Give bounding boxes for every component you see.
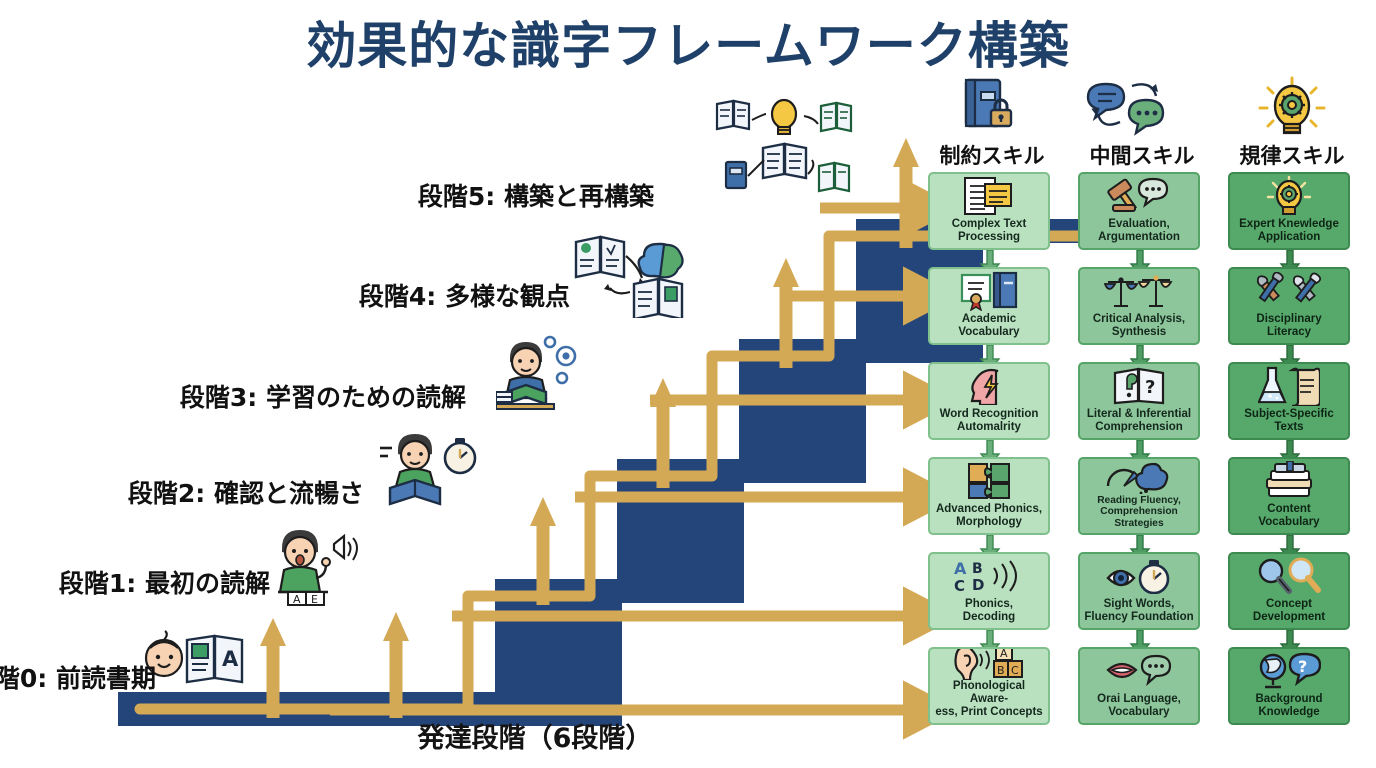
stage-up-arrows xyxy=(260,138,919,718)
brain-lightning-icon xyxy=(930,364,1048,408)
skill-label: Reading Fluency, Comprehension Strategie… xyxy=(1080,495,1198,529)
skill-label: Literal & Inferential Comprehension xyxy=(1080,408,1198,434)
skill-box-disciplinary-2[interactable]: Subject-Specific Texts xyxy=(1228,362,1350,440)
skill-label: Sight Words, Fluency Foundation xyxy=(1080,598,1198,624)
skill-box-constrained-4[interactable]: A B C D Phonics, Decoding xyxy=(928,552,1050,630)
child-speaking-letters-icon: A E xyxy=(266,522,362,606)
tools-icon xyxy=(1230,269,1348,313)
skill-label: Evaluation, Argumentation xyxy=(1080,218,1198,244)
svg-text:A: A xyxy=(222,647,239,671)
flask-scroll-icon xyxy=(1230,364,1348,408)
puzzle-icon xyxy=(930,459,1048,503)
gauge-cloud-icon xyxy=(1080,459,1198,495)
svg-text:C: C xyxy=(1011,664,1019,677)
speech-bubbles-cycle-icon xyxy=(1072,76,1212,138)
lightbulb-gear-icon xyxy=(1222,76,1362,138)
skill-label: Critical Analysis, Synthesis xyxy=(1080,313,1198,339)
svg-text:?: ? xyxy=(1298,657,1307,676)
svg-text:B: B xyxy=(972,561,983,577)
student-gears-icon xyxy=(496,330,582,416)
certificate-book-icon xyxy=(930,269,1048,313)
skill-label: Concept Development xyxy=(1230,598,1348,624)
skill-box-intermediate-1[interactable]: Critical Analysis, Synthesis xyxy=(1078,267,1200,345)
skill-box-constrained-3[interactable]: Advanced Phonics, Morphology xyxy=(928,457,1050,535)
skill-label: Orai Language, Vocabulary xyxy=(1080,693,1198,719)
skill-label: Word Recognition Automalrity xyxy=(930,408,1048,434)
scales-icon xyxy=(1080,269,1198,313)
column-header-label: 規律スキル xyxy=(1240,144,1345,168)
svg-text:A: A xyxy=(293,593,301,606)
column-header-constrained: 制約スキル xyxy=(922,140,1062,170)
skill-label: Phonological Aware- ess, Print Concepts xyxy=(930,680,1048,719)
lightbulb-gear-icon xyxy=(1230,174,1348,218)
skill-box-constrained-0[interactable]: Complex Text Processing xyxy=(928,172,1050,250)
stage-label-3: 段階3: 学習のための読解 xyxy=(180,378,466,414)
stage-label-5: 段階5: 構築と再構築 xyxy=(418,177,654,213)
documents-icon xyxy=(930,174,1048,218)
skill-box-intermediate-5[interactable]: Orai Language, Vocabulary xyxy=(1078,647,1200,725)
skill-label: Phonics, Decoding xyxy=(930,598,1048,624)
column-header-label: 制約スキル xyxy=(940,144,1045,168)
skill-label: Expert Knewledge Application xyxy=(1230,218,1348,244)
ear-blocks-icon: A B C xyxy=(930,647,1048,680)
column-header-disciplinary: 規律スキル xyxy=(1222,140,1362,170)
skill-box-constrained-2[interactable]: Word Recognition Automalrity xyxy=(928,362,1050,440)
skill-box-disciplinary-4[interactable]: Concept Development xyxy=(1228,552,1350,630)
page-title: 効果的な識字フレームワーク構築 xyxy=(0,6,1376,78)
mouth-speech-icon xyxy=(1080,649,1198,693)
globe-question-icon: ? xyxy=(1230,649,1348,693)
column-header-intermediate: 中間スキル xyxy=(1072,140,1212,170)
skill-label: Subject-Specific Texts xyxy=(1230,408,1348,434)
skill-box-constrained-1[interactable]: Academic Vocabulary xyxy=(928,267,1050,345)
skill-box-intermediate-3[interactable]: Reading Fluency, Comprehension Strategie… xyxy=(1078,457,1200,535)
stage-label-2: 段階2: 確認と流暢さ xyxy=(128,474,364,510)
infographic-root: 効果的な識字フレームワーク構築 xyxy=(0,0,1376,768)
eye-stopwatch-icon xyxy=(1080,554,1198,598)
books-network-bulb-icon xyxy=(712,96,858,208)
skill-label: Disciplinary Literacy xyxy=(1230,313,1348,339)
svg-text:A: A xyxy=(1000,647,1008,660)
skill-box-intermediate-2[interactable]: ? Literal & Inferential Comprehension xyxy=(1078,362,1200,440)
stage-label-0: 段階0: 前読書期 xyxy=(0,659,156,695)
abcd-sound-icon: A B C D xyxy=(930,554,1048,598)
skill-box-intermediate-4[interactable]: Sight Words, Fluency Foundation xyxy=(1078,552,1200,630)
skill-label: Advanced Phonics, Morphology xyxy=(930,503,1048,529)
baby-picturebook-icon: A xyxy=(140,626,248,686)
skill-box-disciplinary-5[interactable]: ? Background Knowledge xyxy=(1228,647,1350,725)
skill-box-disciplinary-0[interactable]: Expert Knewledge Application xyxy=(1228,172,1350,250)
svg-text:C: C xyxy=(954,577,965,594)
skill-label: Academic Vocabulary xyxy=(930,313,1048,339)
svg-text:B: B xyxy=(997,664,1005,677)
two-books-brain-icon xyxy=(574,232,704,318)
skill-box-disciplinary-3[interactable]: Content Vocabulary xyxy=(1228,457,1350,535)
skill-box-disciplinary-1[interactable]: Disciplinary Literacy xyxy=(1228,267,1350,345)
column-header-label: 中間スキル xyxy=(1090,144,1195,168)
developmental-stages-caption: 発達段階（6段階） xyxy=(330,716,740,755)
svg-text:?: ? xyxy=(1145,377,1155,398)
magnifiers-icon xyxy=(1230,554,1348,598)
skill-box-intermediate-0[interactable]: Evaluation, Argumentation xyxy=(1078,172,1200,250)
locked-book-icon xyxy=(922,76,1062,138)
svg-text:D: D xyxy=(972,576,984,594)
gavel-speech-icon xyxy=(1080,174,1198,218)
svg-text:E: E xyxy=(311,593,318,606)
skill-box-constrained-5[interactable]: A B C Phonological Aware- ess, Print Con… xyxy=(928,647,1050,725)
skill-label: Background Knowledge xyxy=(1230,693,1348,719)
child-reading-stopwatch-icon xyxy=(378,430,478,508)
stage-label-4: 段階4: 多様な観点 xyxy=(359,277,570,313)
book-question-icon: ? xyxy=(1080,364,1198,408)
skill-label: Complex Text Processing xyxy=(930,218,1048,244)
svg-text:A: A xyxy=(954,559,967,578)
book-stack-icon xyxy=(1230,459,1348,503)
stage-label-1: 段階1: 最初の読解 xyxy=(59,564,270,600)
skill-label: Content Vocabulary xyxy=(1230,503,1348,529)
